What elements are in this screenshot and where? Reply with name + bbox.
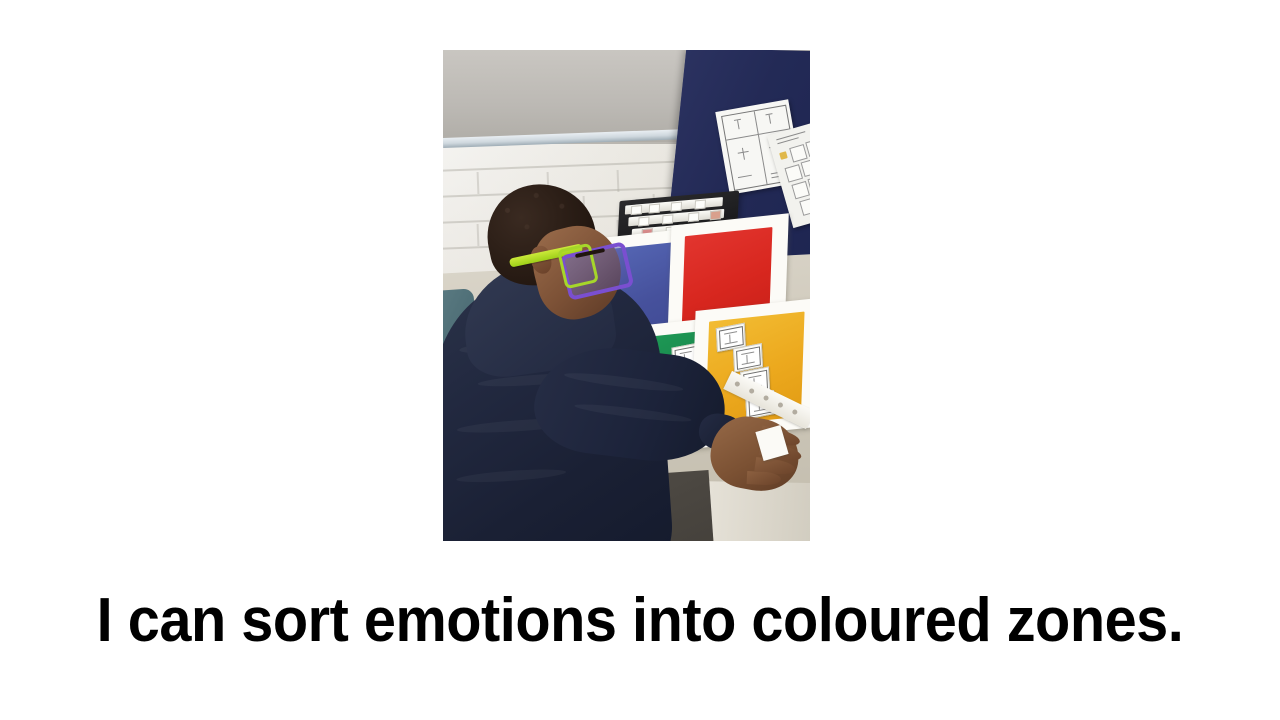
slide-canvas: I can sort emotions into coloured zones. — [0, 0, 1280, 720]
classroom-photo — [443, 50, 810, 541]
slide-caption: I can sort emotions into coloured zones. — [45, 586, 1235, 656]
